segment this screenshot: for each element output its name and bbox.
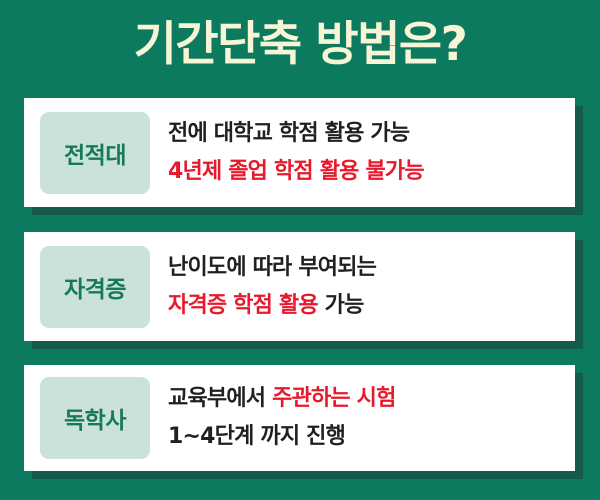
text-segment: 전에 대학교 학점 활용 가능 — [168, 121, 409, 146]
text-segment: 난이도에 따라 부여되는 — [168, 255, 376, 280]
card-body: 독학사 교육부에서 주관하는 시험 1~4단계 까지 진행 — [24, 365, 575, 471]
info-card: 자격증 난이도에 따라 부여되는 자격증 학점 활용 가능 — [24, 232, 575, 341]
card-badge: 자격증 — [40, 246, 150, 328]
text-segment: 주관하는 시험 — [272, 386, 396, 411]
text-segment: 4년제 졸업 학점 활용 불가능 — [168, 159, 424, 184]
card-line: 난이도에 따라 부여되는 — [168, 249, 563, 287]
text-segment: 자격증 학점 활용 — [168, 293, 318, 318]
card-line: 1~4단계 까지 진행 — [168, 418, 563, 456]
text-segment: 가능 — [318, 293, 364, 318]
card-line: 4년제 졸업 학점 활용 불가능 — [168, 153, 563, 191]
card-line: 자격증 학점 활용 가능 — [168, 287, 563, 325]
card-lines: 교육부에서 주관하는 시험 1~4단계 까지 진행 — [168, 380, 575, 456]
card-body: 자격증 난이도에 따라 부여되는 자격증 학점 활용 가능 — [24, 232, 575, 341]
card-lines: 난이도에 따라 부여되는 자격증 학점 활용 가능 — [168, 249, 575, 325]
info-card: 독학사 교육부에서 주관하는 시험 1~4단계 까지 진행 — [24, 365, 575, 471]
infographic-root: 기간단축 방법은? 전적대 전에 대학교 학점 활용 가능 4년제 졸업 학점 … — [0, 0, 600, 500]
card-badge: 독학사 — [40, 377, 150, 459]
card-lines: 전에 대학교 학점 활용 가능 4년제 졸업 학점 활용 불가능 — [168, 115, 575, 191]
card-line: 전에 대학교 학점 활용 가능 — [168, 115, 563, 153]
card-body: 전적대 전에 대학교 학점 활용 가능 4년제 졸업 학점 활용 불가능 — [24, 98, 575, 207]
text-segment: 1~4단계 까지 진행 — [168, 424, 345, 449]
card-line: 교육부에서 주관하는 시험 — [168, 380, 563, 418]
card-badge: 전적대 — [40, 112, 150, 194]
page-title: 기간단축 방법은? — [0, 12, 600, 78]
text-segment: 교육부에서 — [168, 386, 272, 411]
info-card: 전적대 전에 대학교 학점 활용 가능 4년제 졸업 학점 활용 불가능 — [24, 98, 575, 207]
